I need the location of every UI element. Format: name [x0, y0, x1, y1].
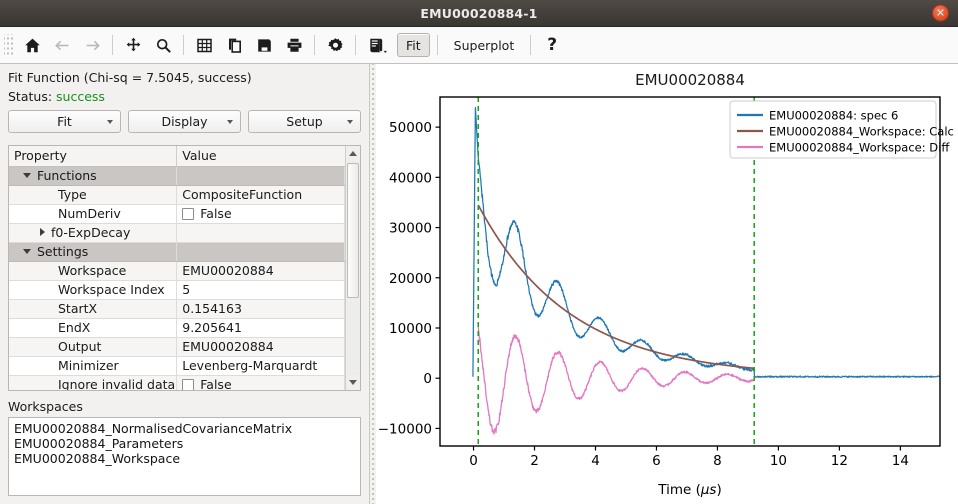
property-cell: Minimizer	[9, 356, 177, 375]
property-name: Type	[14, 187, 87, 202]
column-header-value[interactable]: Value	[177, 146, 345, 166]
table-header-row: Property Value	[9, 146, 345, 166]
chevron-right-icon[interactable]	[40, 228, 45, 236]
y-tick-label: −10000	[378, 421, 432, 437]
scrollbar-thumb[interactable]	[347, 163, 359, 298]
value-text: EMU00020884	[182, 263, 273, 278]
x-tick-label: 8	[713, 453, 722, 469]
fit-button[interactable]: Fit	[8, 110, 121, 133]
value-cell[interactable]: EMU00020884	[177, 261, 345, 280]
x-tick-label: 4	[591, 453, 600, 469]
value-text: 9.205641	[182, 320, 242, 335]
y-tick-label: 0	[423, 371, 432, 387]
x-axis-label: Time (μs)	[657, 482, 722, 498]
toolbar-separator	[112, 35, 113, 55]
fit-panel: Fit Function (Chi-sq = 7.5045, success) …	[0, 64, 370, 504]
fit-status: Status: success	[0, 87, 369, 108]
main-split: Fit Function (Chi-sq = 7.5045, success) …	[0, 64, 958, 504]
value-cell[interactable]: 9.205641	[177, 318, 345, 337]
value-cell[interactable]	[177, 166, 345, 185]
property-cell: Ignore invalid data	[9, 375, 177, 391]
forward-arrow-icon[interactable]	[77, 31, 107, 60]
table-row[interactable]: NumDerivFalse	[9, 204, 345, 223]
y-tick-label: 20000	[389, 271, 432, 287]
settings-gear-icon[interactable]	[320, 31, 350, 60]
value-text: Levenberg-Marquardt	[182, 358, 317, 373]
property-name: Workspace	[14, 263, 126, 278]
property-cell: Output	[9, 337, 177, 356]
x-tick-label: 6	[652, 453, 661, 469]
toolbar-separator	[530, 35, 531, 55]
toolbar-separator	[314, 35, 315, 55]
table-row[interactable]: MinimizerLevenberg-Marquardt	[9, 356, 345, 375]
x-tick-label: 12	[831, 453, 848, 469]
property-name: Minimizer	[14, 358, 119, 373]
y-tick-label: 40000	[389, 170, 432, 186]
fit-button-label: Fit	[57, 114, 72, 129]
plot-area[interactable]: EMU0002088402468101214−10000010000200003…	[376, 64, 958, 504]
value-cell[interactable]: False	[177, 204, 345, 223]
x-tick-label: 14	[892, 453, 909, 469]
list-item[interactable]: EMU00020884_Parameters	[14, 436, 355, 451]
copy-icon[interactable]	[219, 31, 249, 60]
fit-button-row: Fit Display Setup	[0, 108, 369, 139]
value-cell[interactable]: False	[177, 375, 345, 391]
table-row[interactable]: Functions	[9, 166, 345, 185]
status-label: Status:	[8, 89, 52, 104]
tab-fit[interactable]: Fit	[397, 33, 430, 57]
property-table-scrollbar[interactable]	[345, 146, 360, 390]
value-cell[interactable]: 0.154163	[177, 299, 345, 318]
table-row[interactable]: EndX9.205641	[9, 318, 345, 337]
y-tick-label: 30000	[389, 221, 432, 237]
property-name: Ignore invalid data	[14, 377, 175, 391]
window-titlebar: EMU00020884-1 ✕	[0, 0, 958, 27]
tab-superplot[interactable]: Superplot	[445, 33, 524, 57]
value-text: False	[200, 377, 231, 391]
scrollbar-track[interactable]	[346, 161, 361, 375]
script-generate-icon[interactable]	[361, 31, 395, 60]
checkbox[interactable]	[182, 379, 194, 391]
toolbar-separator	[355, 35, 356, 55]
property-cell: f0-ExpDecay	[9, 223, 177, 242]
print-icon[interactable]	[279, 31, 309, 60]
property-name: Output	[14, 339, 101, 354]
setup-button[interactable]: Setup	[248, 110, 361, 133]
chevron-down-icon[interactable]	[227, 120, 233, 124]
back-arrow-icon[interactable]	[47, 31, 77, 60]
series-diff	[478, 326, 754, 434]
property-table-body: Property Value FunctionsTypeCompositeFun…	[9, 146, 345, 391]
status-value: success	[56, 89, 105, 104]
setup-button-label: Setup	[286, 114, 322, 129]
value-cell[interactable]	[177, 242, 345, 261]
legend-label: EMU00020884: spec 6	[769, 109, 898, 123]
scroll-down-icon[interactable]	[346, 375, 361, 390]
table-row[interactable]: StartX0.154163	[9, 299, 345, 318]
workspaces-list[interactable]: EMU00020884_NormalisedCovarianceMatrixEM…	[8, 417, 361, 496]
checkbox[interactable]	[182, 208, 194, 220]
y-tick-label: 10000	[389, 321, 432, 337]
display-button-label: Display	[161, 114, 207, 129]
value-text: 5	[182, 282, 190, 297]
value-cell[interactable]: CompositeFunction	[177, 185, 345, 204]
chevron-down-icon[interactable]	[347, 120, 353, 124]
value-cell[interactable]: EMU00020884	[177, 337, 345, 356]
property-table: Property Value FunctionsTypeCompositeFun…	[8, 145, 361, 391]
chevron-down-icon[interactable]	[23, 173, 31, 178]
close-icon[interactable]: ✕	[932, 5, 949, 22]
grid-table-icon[interactable]	[189, 31, 219, 60]
chevron-down-icon[interactable]	[107, 120, 113, 124]
x-tick-label: 10	[770, 453, 787, 469]
scroll-up-icon[interactable]	[346, 146, 361, 161]
toolbar-drag-handle[interactable]	[4, 34, 14, 56]
window-title: EMU00020884-1	[420, 6, 537, 21]
x-tick-label: 0	[469, 453, 478, 469]
property-cell: Settings	[9, 242, 177, 261]
value-text: EMU00020884	[182, 339, 273, 354]
chart-title: EMU00020884	[635, 71, 745, 89]
value-cell[interactable]: Levenberg-Marquardt	[177, 356, 345, 375]
toolbar-separator	[183, 35, 184, 55]
property-name: f0-ExpDecay	[51, 225, 130, 240]
chevron-down-icon[interactable]	[23, 249, 31, 254]
property-cell: Functions	[9, 166, 177, 185]
table-row[interactable]: TypeCompositeFunction	[9, 185, 345, 204]
property-name: StartX	[14, 301, 97, 316]
plot-toolbar: Fit Superplot ?	[0, 27, 958, 64]
save-floppy-icon[interactable]	[249, 31, 279, 60]
fit-function-header: Fit Function (Chi-sq = 7.5045, success)	[0, 64, 369, 87]
property-cell: NumDeriv	[9, 204, 177, 223]
list-item[interactable]: EMU00020884_Workspace	[14, 451, 355, 466]
help-icon[interactable]: ?	[538, 33, 566, 57]
property-cell: Type	[9, 185, 177, 204]
toolbar-separator	[437, 35, 438, 55]
value-text: 0.154163	[182, 301, 242, 316]
list-item[interactable]: EMU00020884_NormalisedCovarianceMatrix	[14, 421, 355, 436]
property-name: EndX	[14, 320, 90, 335]
property-cell: Workspace	[9, 261, 177, 280]
fit-plot[interactable]: EMU0002088402468101214−10000010000200003…	[376, 64, 958, 504]
value-text: CompositeFunction	[182, 187, 302, 202]
table-row[interactable]: Ignore invalid dataFalse	[9, 375, 345, 391]
value-cell[interactable]: 5	[177, 280, 345, 299]
zoom-magnifier-icon[interactable]	[148, 31, 178, 60]
x-tick-label: 2	[530, 453, 539, 469]
table-row[interactable]: f0-ExpDecay	[9, 223, 345, 242]
property-name: NumDeriv	[14, 206, 121, 221]
property-cell: EndX	[9, 318, 177, 337]
home-icon[interactable]	[17, 31, 47, 60]
table-row[interactable]: WorkspaceEMU00020884	[9, 261, 345, 280]
table-row[interactable]: OutputEMU00020884	[9, 337, 345, 356]
y-tick-label: 50000	[389, 120, 432, 136]
property-cell: StartX	[9, 299, 177, 318]
table-row[interactable]: Settings	[9, 242, 345, 261]
mantid-fit-window: EMU00020884-1 ✕	[0, 0, 958, 504]
workspaces-label: Workspaces	[0, 391, 369, 417]
display-button[interactable]: Display	[128, 110, 241, 133]
column-header-property[interactable]: Property	[9, 146, 177, 166]
property-cell: Workspace Index	[9, 280, 177, 299]
property-name: Workspace Index	[14, 282, 165, 297]
value-text: False	[200, 206, 231, 221]
value-cell[interactable]	[177, 223, 345, 242]
chart-legend: EMU00020884: spec 6EMU00020884_Workspace…	[730, 101, 954, 158]
legend-label: EMU00020884_Workspace: Diff	[769, 141, 950, 155]
pan-move-icon[interactable]	[118, 31, 148, 60]
property-name: Settings	[37, 244, 88, 259]
legend-label: EMU00020884_Workspace: Calc	[769, 125, 954, 139]
table-row[interactable]: Workspace Index5	[9, 280, 345, 299]
property-name: Functions	[37, 168, 97, 183]
